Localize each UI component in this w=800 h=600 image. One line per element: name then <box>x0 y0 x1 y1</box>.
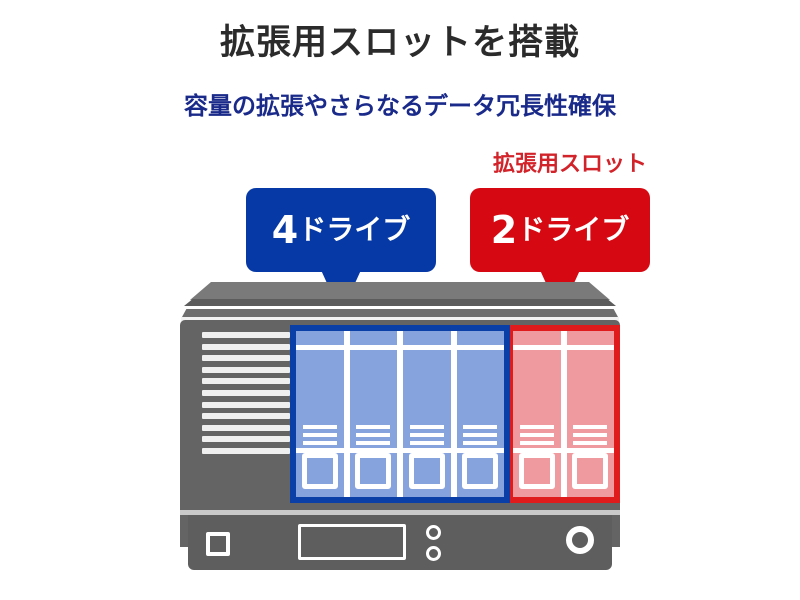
drive-vent-lines-icon <box>573 425 607 445</box>
vent-slat <box>202 425 290 431</box>
drive-vent-lines-icon <box>303 425 337 445</box>
vent-slat <box>202 367 290 373</box>
expansion-drive-bay[interactable] <box>564 331 615 497</box>
device-lid-top <box>190 282 610 300</box>
expansion-slot-label: 拡張用スロット <box>470 146 670 178</box>
main-drive-bay[interactable] <box>454 331 505 497</box>
vent-slat <box>202 344 290 350</box>
vent-slat <box>202 448 290 454</box>
drive-handle[interactable] <box>409 453 445 489</box>
device-control-panel <box>188 515 612 570</box>
page-title: 拡張用スロットを搭載 <box>0 22 800 64</box>
device-lid-band <box>184 299 616 306</box>
drive-notch <box>403 345 451 350</box>
device-lid-band-2 <box>182 309 618 317</box>
vent-slat <box>202 332 290 338</box>
drive-vent-lines-icon <box>356 425 390 445</box>
power-button[interactable] <box>566 526 594 554</box>
drive-handle[interactable] <box>572 453 608 489</box>
main-drive-bay-group <box>290 325 510 503</box>
nas-device-illustration <box>180 282 620 582</box>
drive-handle[interactable] <box>302 453 338 489</box>
expansion-drive-bay[interactable] <box>513 331 564 497</box>
vent-slat <box>202 402 290 408</box>
vent-slat <box>202 355 290 361</box>
vent-slat <box>202 436 290 442</box>
lcd-display <box>298 524 406 560</box>
drive-notch <box>513 345 561 350</box>
drive-handle[interactable] <box>355 453 391 489</box>
drive-vent-lines-icon <box>520 425 554 445</box>
callout-main-bays: 4 ドライブ <box>246 188 436 272</box>
callout-main-unit: ドライブ <box>298 216 410 244</box>
led-indicator-2-icon <box>426 546 441 561</box>
drive-notch <box>457 345 505 350</box>
main-drive-bay[interactable] <box>400 331 454 497</box>
vent-slat <box>202 390 290 396</box>
callout-main-number: 4 <box>272 211 298 249</box>
drive-handle[interactable] <box>462 453 498 489</box>
main-drive-bay[interactable] <box>347 331 401 497</box>
page-subtitle: 容量の拡張やさらなるデータ冗長性確保 <box>0 92 800 121</box>
expansion-drive-bay-group <box>510 325 620 503</box>
drive-vent-lines-icon <box>410 425 444 445</box>
callout-expansion-bays: 2 ドライブ <box>470 188 650 272</box>
main-drive-bay[interactable] <box>296 331 347 497</box>
drive-notch <box>567 345 615 350</box>
drive-handle[interactable] <box>519 453 555 489</box>
callout-expansion-unit: ドライブ <box>517 216 629 244</box>
led-indicator-1-icon <box>426 525 441 540</box>
drive-vent-lines-icon <box>463 425 497 445</box>
callout-expansion-number: 2 <box>491 211 517 249</box>
square-button-icon[interactable] <box>206 532 230 556</box>
drive-notch <box>296 345 344 350</box>
drive-notch <box>350 345 398 350</box>
infographic-canvas: 拡張用スロットを搭載 容量の拡張やさらなるデータ冗長性確保 拡張用スロット 4 … <box>0 0 800 600</box>
device-vent-grille <box>202 332 290 454</box>
vent-slat <box>202 413 290 419</box>
vent-slat <box>202 378 290 384</box>
